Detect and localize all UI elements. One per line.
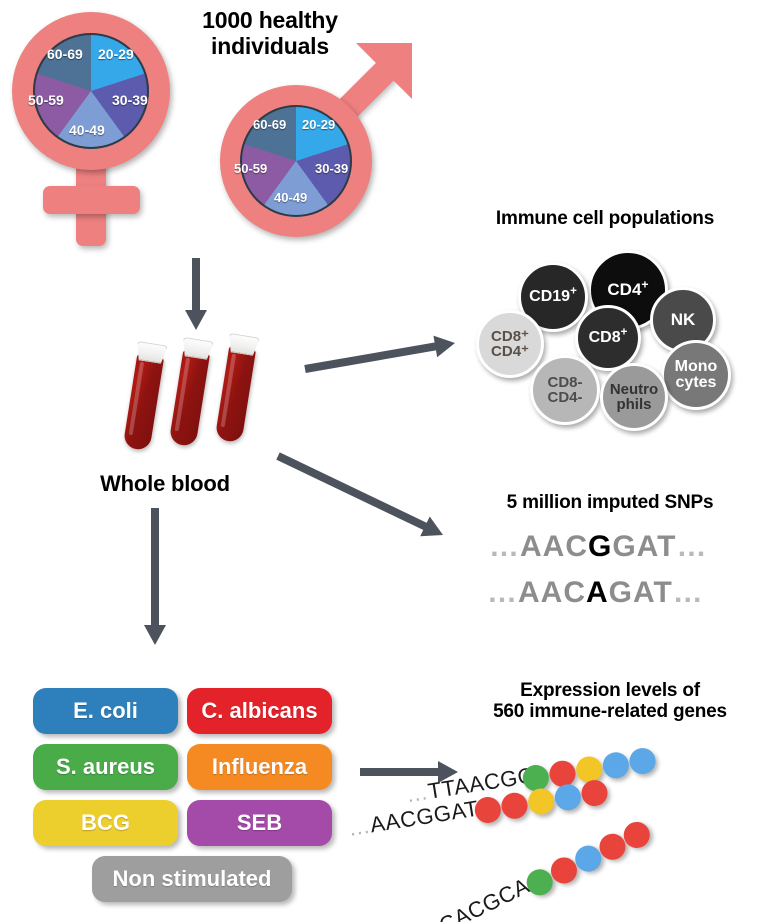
figure-canvas: 1000 healthy individuals 20-29 30-39 40-… [0, 0, 771, 922]
strand-bead-red [500, 791, 530, 821]
strand-bead-blue [628, 746, 658, 776]
strand-bead-blue [553, 782, 583, 812]
strand-bead-red [580, 778, 610, 808]
expression-strand-group: …TTAACGG…AACGGAT…CACGCAA [0, 0, 771, 922]
strand-bead-yellow [526, 787, 556, 817]
strand-bead-blue [601, 750, 631, 780]
